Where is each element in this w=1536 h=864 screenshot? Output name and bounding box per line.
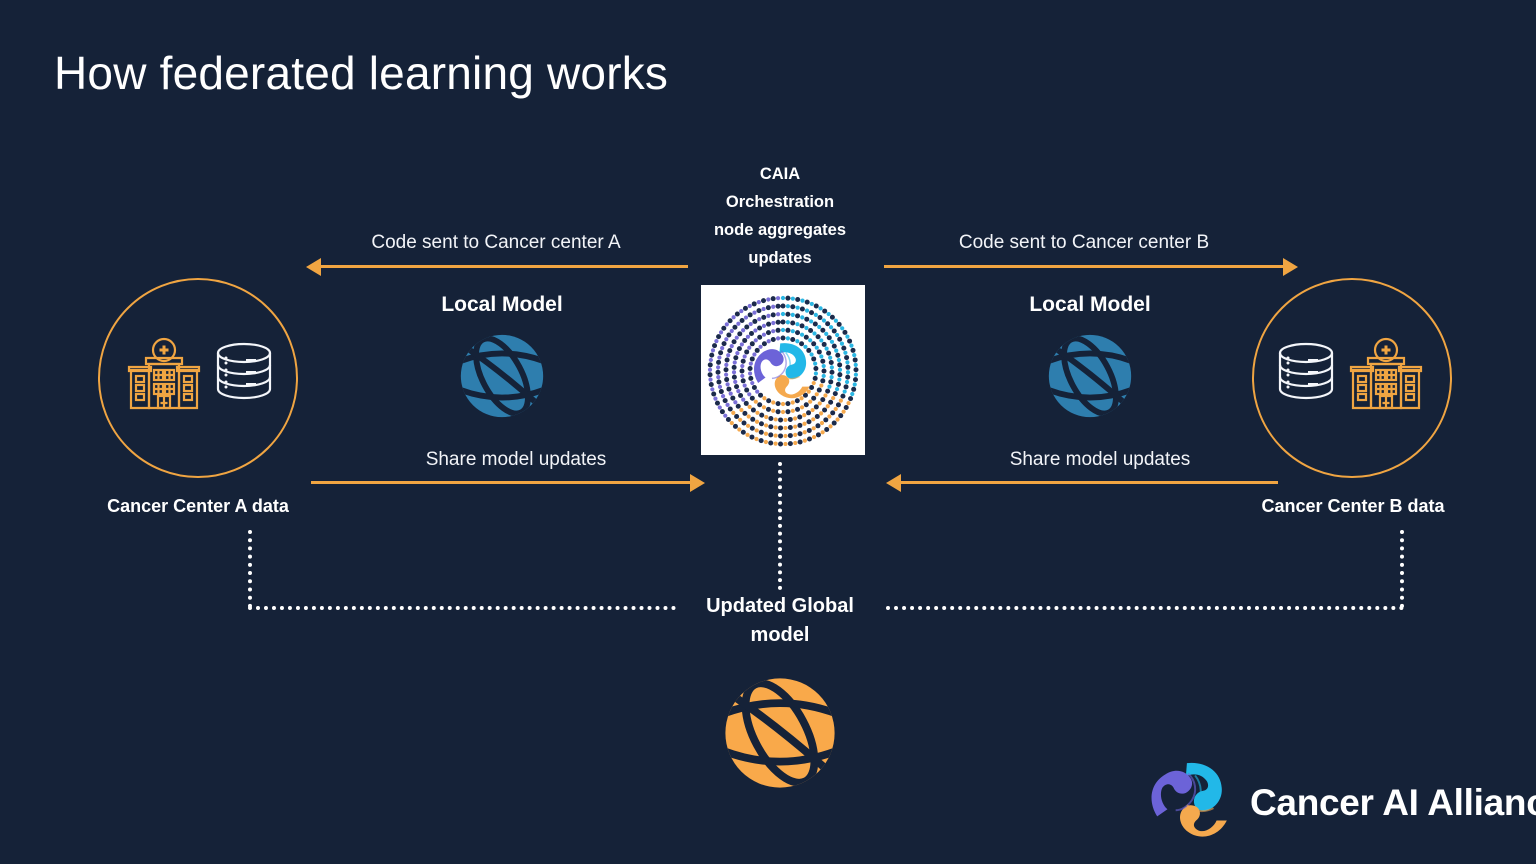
arrow-label-share-updates-a: Share model updates [306,449,726,471]
updated-global-model-label-line-2: model [680,621,880,650]
arrow-share-updates-b [900,481,1278,484]
cancer-center-a-icons [100,280,296,476]
dotted-connector-b-horizontal [886,606,1404,610]
arrow-share-updates-a [311,481,691,484]
dotted-connector-b-vertical [1400,530,1404,608]
arrow-label-share-updates-b: Share model updates [890,449,1310,471]
database-cylinder-icon [1275,340,1337,417]
orchestration-caption-line-1: CAIA [690,160,870,188]
caia-dotted-rings-hands-logo [701,285,865,455]
arrow-code-to-center-b [884,265,1284,268]
arrowhead-left-icon [306,258,321,276]
cancer-center-b-icons [1254,280,1450,476]
dotted-connector-a-horizontal [248,606,676,610]
database-cylinder-icon [213,340,275,417]
local-model-b-label: Local Model [1000,293,1180,317]
arrowhead-right-icon [1283,258,1298,276]
cancer-center-b-node [1252,278,1452,478]
arrow-label-code-to-center-a: Code sent to Cancer center A [306,232,686,254]
cancer-center-a-node [98,278,298,478]
updated-global-model-label-line-1: Updated Global [680,592,880,621]
arrowhead-left-icon [886,474,901,492]
three-hands-triskelion-logo [1148,757,1234,848]
hospital-building-icon [121,336,207,421]
brand-lockup: Cancer AI Alliance [1148,757,1536,848]
globe-icon [715,668,845,803]
cancer-center-b-label: Cancer Center B data [1238,496,1468,517]
orchestration-caption-line-3: node aggregates [690,216,870,244]
globe-icon [1041,327,1139,430]
hospital-building-icon [1343,336,1429,421]
globe-icon [453,327,551,430]
orchestration-caption: CAIA Orchestration node aggregates updat… [690,160,870,272]
local-model-a-label: Local Model [412,293,592,317]
page-title: How federated learning works [54,46,668,100]
orchestration-caption-line-2: Orchestration [690,188,870,216]
brand-name: Cancer AI Alliance [1250,782,1536,824]
slide-canvas: How federated learning works [0,0,1536,864]
arrowhead-right-icon [690,474,705,492]
cancer-center-a-label: Cancer Center A data [83,496,313,517]
arrow-label-code-to-center-b: Code sent to Cancer center B [884,232,1284,254]
updated-global-model-label: Updated Global model [680,592,880,650]
arrow-code-to-center-a [320,265,688,268]
orchestration-caption-line-4: updates [690,244,870,272]
dotted-connector-center-vertical [778,462,782,590]
dotted-connector-a-vertical [248,530,252,608]
